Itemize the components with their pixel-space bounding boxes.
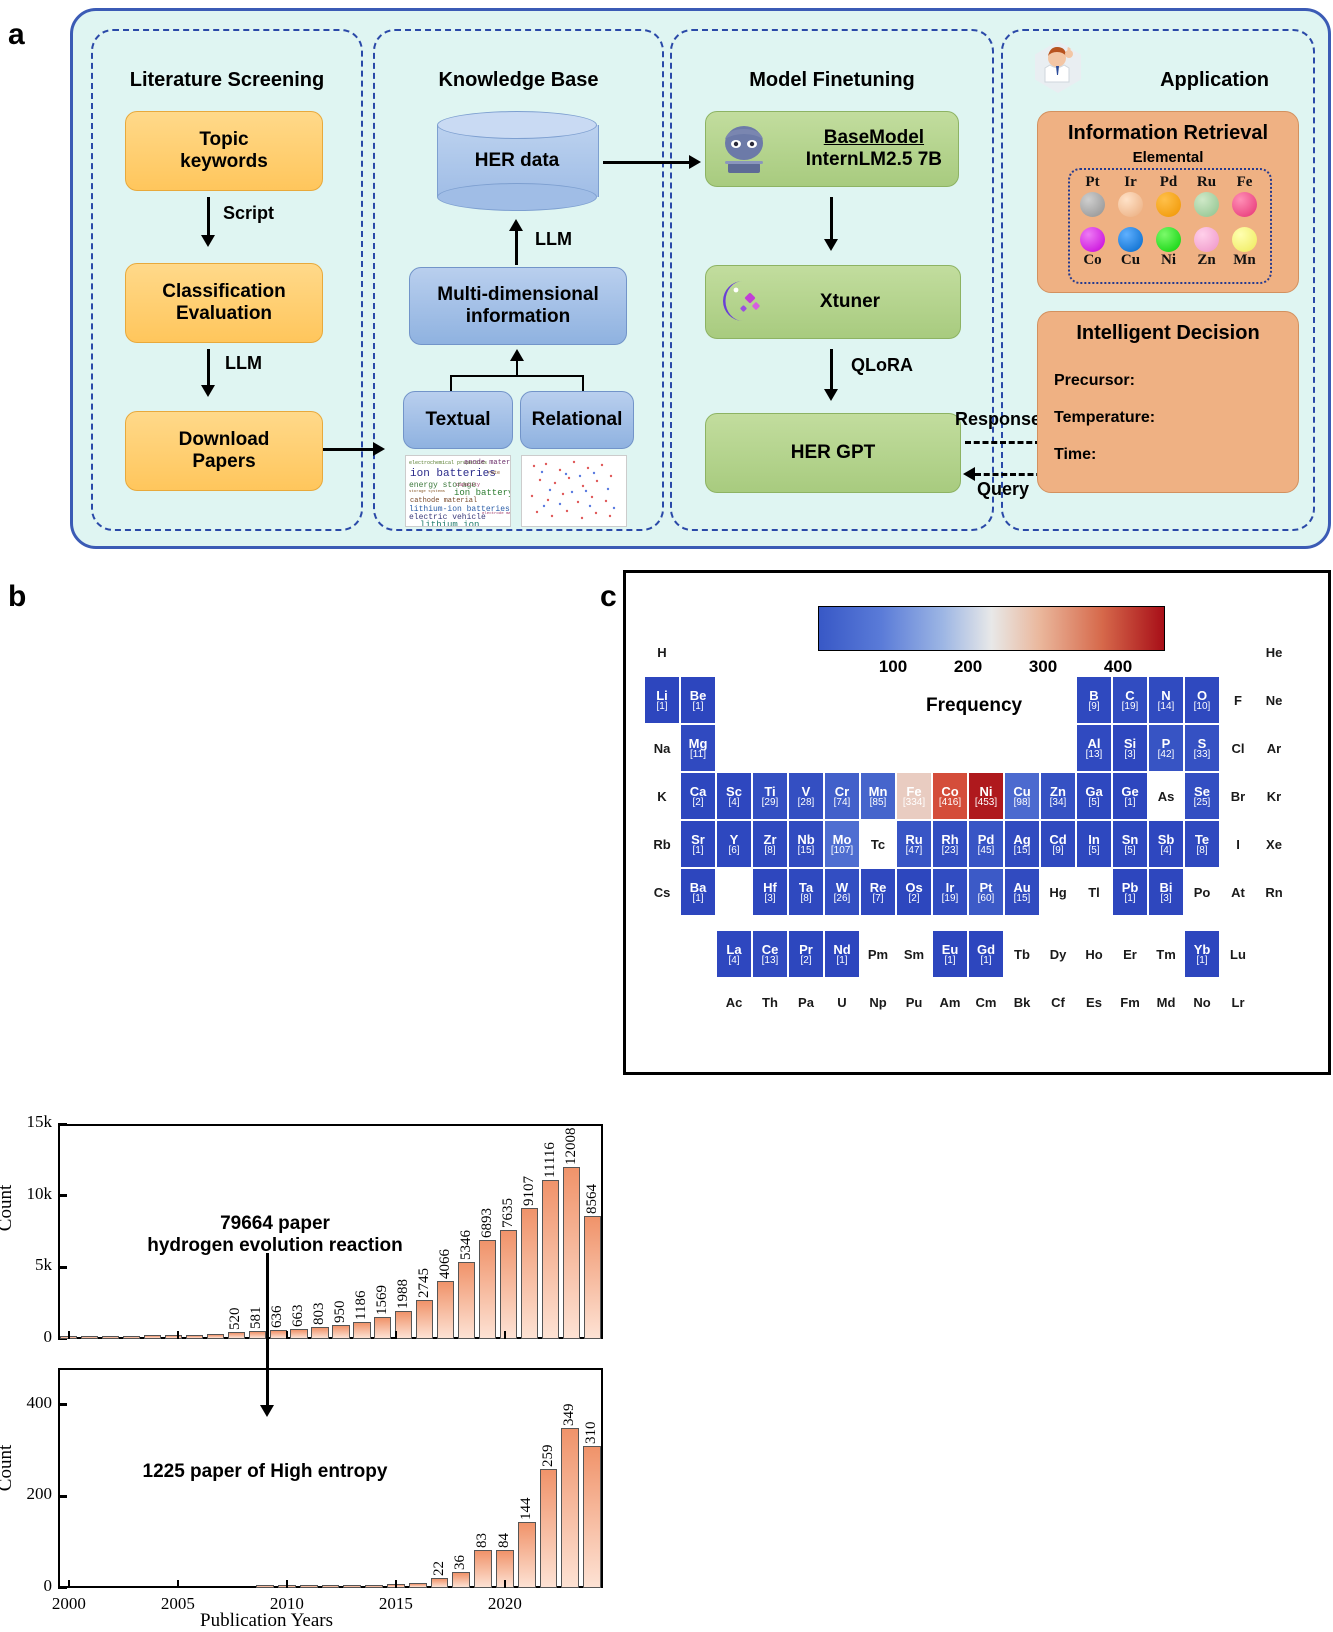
bar [365, 1585, 383, 1588]
element-symbol: Te [1195, 833, 1209, 846]
periodic-cell-ac[interactable]: Ac [716, 978, 752, 1026]
bar [102, 1336, 119, 1339]
element-frequency-value: [19] [942, 894, 959, 904]
bar [332, 1325, 349, 1339]
element-symbol: C [1125, 689, 1134, 702]
element-frequency-value: [1] [980, 956, 991, 966]
element-chip-ir[interactable]: Ir [1114, 174, 1147, 217]
xtick-label: 2005 [154, 1594, 202, 1614]
periodic-cell-fm[interactable]: Fm [1112, 978, 1148, 1026]
periodic-cell-as[interactable]: As [1148, 772, 1184, 820]
upper-chart-annotation: 79664 paper hydrogen evolution reaction [110, 1213, 440, 1257]
element-frequency-value: [3] [1124, 750, 1135, 760]
xtick-mark-upper [286, 1331, 289, 1339]
periodic-cell-rn[interactable]: Rn [1256, 868, 1292, 916]
element-symbol: Ni [1152, 252, 1185, 269]
element-symbol: Fm [1120, 996, 1140, 1009]
bar-value-label: 663 [290, 1277, 307, 1327]
element-symbol: Bi [1160, 881, 1173, 894]
periodic-cell-sb[interactable]: Sb[4] [1148, 820, 1184, 868]
bar [144, 1335, 161, 1339]
bar-value-label: 12008 [563, 1115, 580, 1165]
element-frequency-value: [25] [1194, 798, 1211, 808]
periodic-cell-c[interactable]: C[19] [1112, 676, 1148, 724]
element-symbol: Cm [976, 996, 997, 1009]
xtick-label: 2015 [372, 1594, 420, 1614]
periodic-cell-ca[interactable]: Ca[2] [680, 772, 716, 820]
ytick-mark [58, 1403, 67, 1406]
element-symbol: Yb [1194, 943, 1211, 956]
element-symbol: Pa [798, 996, 814, 1009]
periodic-cell-mn[interactable]: Mn[85] [860, 772, 896, 820]
element-chip-mn[interactable]: Mn [1228, 226, 1261, 269]
node-basemodel-line2: InternLM2.5 7B [806, 149, 942, 171]
xtick-mark [286, 1580, 289, 1588]
element-frequency-value: [1] [692, 894, 703, 904]
bar [228, 1332, 245, 1339]
periodic-cell-cs[interactable]: Cs [644, 868, 680, 916]
periodic-cell-b[interactable]: B[9] [1076, 676, 1112, 724]
node-multidim-line2: information [437, 306, 599, 328]
element-frequency-value: [9] [1052, 846, 1063, 856]
bar [165, 1335, 182, 1339]
periodic-cell-h[interactable]: H [644, 628, 680, 676]
bar [123, 1336, 140, 1339]
periodic-cell-li[interactable]: Li[1] [644, 676, 680, 724]
periodic-cell-ru[interactable]: Ru[47] [896, 820, 932, 868]
periodic-cell-am[interactable]: Am [932, 978, 968, 1026]
element-symbol: Cu [1013, 785, 1030, 798]
arrow-model-to-xtuner-head [824, 239, 838, 251]
periodic-cell-ir[interactable]: Ir[19] [932, 868, 968, 916]
element-symbol: Co [941, 785, 958, 798]
element-symbol: He [1266, 646, 1283, 659]
periodic-cell-sc[interactable]: Sc[4] [716, 772, 752, 820]
node-topic-keywords-line1: Topic [180, 129, 268, 151]
periodic-cell-pb[interactable]: Pb[1] [1112, 868, 1148, 916]
arrow-llm2-line [515, 229, 518, 265]
wordcloud-thumbnail: electrochemical properties anode materia… [405, 455, 511, 527]
element-frequency-value: [23] [942, 846, 959, 856]
periodic-cell-ge[interactable]: Ge[1] [1112, 772, 1148, 820]
bar [374, 1317, 391, 1339]
periodic-cell-p[interactable]: P[42] [1148, 724, 1184, 772]
periodic-cell-f[interactable]: F [1220, 676, 1256, 724]
bar [479, 1240, 496, 1339]
element-symbol: Ac [726, 996, 743, 1009]
element-frequency-value: [107] [831, 846, 853, 856]
element-symbol: Ru [905, 833, 922, 846]
periodic-cell-ni[interactable]: Ni[453] [968, 772, 1004, 820]
node-her-gpt[interactable]: HER GPT [705, 413, 961, 493]
periodic-cell-mo[interactable]: Mo[107] [824, 820, 860, 868]
periodic-cell-nb[interactable]: Nb[15] [788, 820, 824, 868]
element-frequency-value: [5] [1088, 846, 1099, 856]
periodic-cell-cd[interactable]: Cd[9] [1040, 820, 1076, 868]
periodic-cell-gd[interactable]: Gd[1] [968, 930, 1004, 978]
element-frequency-value: [14] [1158, 702, 1175, 712]
periodic-cell-pm[interactable]: Pm [860, 930, 896, 978]
node-topic-keywords[interactable]: Topic keywords [125, 111, 323, 191]
element-frequency-value: [1] [1124, 798, 1135, 808]
element-symbol: Br [1231, 790, 1245, 803]
periodic-cell-po[interactable]: Po [1184, 868, 1220, 916]
element-symbol: Na [654, 742, 671, 755]
node-topic-keywords-line2: keywords [180, 151, 268, 173]
element-symbol: Ta [799, 881, 813, 894]
element-frequency-value: [29] [762, 798, 779, 808]
periodic-cell-ag[interactable]: Ag[15] [1004, 820, 1040, 868]
periodic-cell-he[interactable]: He [1256, 628, 1292, 676]
periodic-cell-er[interactable]: Er [1112, 930, 1148, 978]
periodic-cell-rh[interactable]: Rh[23] [932, 820, 968, 868]
element-frequency-value: [15] [1014, 846, 1031, 856]
element-frequency-value: [4] [728, 956, 739, 966]
element-symbol: Zn [1190, 252, 1223, 269]
periodic-cell-cf[interactable]: Cf [1040, 978, 1076, 1026]
element-symbol: Rn [1265, 886, 1282, 899]
element-symbol: Pr [799, 943, 813, 956]
bar [409, 1583, 427, 1588]
periodic-cell-sm[interactable]: Sm [896, 930, 932, 978]
periodic-cell-re[interactable]: Re[7] [860, 868, 896, 916]
element-symbol: Ir [946, 881, 955, 894]
xtuner-logo-icon [719, 277, 769, 325]
bar [81, 1336, 98, 1339]
periodic-cell-la[interactable]: La[4] [716, 930, 752, 978]
element-symbol: V [802, 785, 811, 798]
periodic-cell-md[interactable]: Md [1148, 978, 1184, 1026]
element-chip-ru[interactable]: Ru [1190, 174, 1223, 217]
periodic-cell-cm[interactable]: Cm [968, 978, 1004, 1026]
arrow-qlora-line [830, 349, 833, 391]
periodic-cell-ti[interactable]: Ti[29] [752, 772, 788, 820]
element-frequency-value: [2] [692, 798, 703, 808]
bar-value-label: 950 [332, 1273, 349, 1323]
element-chip-co[interactable]: Co [1076, 226, 1109, 269]
bar [521, 1208, 538, 1339]
element-frequency-value: [33] [1194, 750, 1211, 760]
periodic-cell-ne[interactable]: Ne [1256, 676, 1292, 724]
periodic-cell-s[interactable]: S[33] [1184, 724, 1220, 772]
periodic-cell-na[interactable]: Na [644, 724, 680, 772]
bar-value-label: 7635 [500, 1178, 517, 1228]
panel-label-a: a [8, 18, 25, 52]
element-symbol: O [1197, 689, 1207, 702]
tree-crossbar [450, 375, 584, 377]
periodic-cell-cr[interactable]: Cr[74] [824, 772, 860, 820]
periodic-cell-tb[interactable]: Tb [1004, 930, 1040, 978]
ytick-mark [58, 1266, 67, 1269]
element-symbol: Eu [942, 943, 959, 956]
element-frequency-value: [8] [1196, 846, 1207, 856]
periodic-cell-n[interactable]: N[14] [1148, 676, 1184, 724]
periodic-cell-w[interactable]: W[26] [824, 868, 860, 916]
element-symbol: Cf [1051, 996, 1065, 1009]
node-download-papers[interactable]: Download Papers [125, 411, 323, 491]
bar-value-label: 84 [496, 1506, 513, 1548]
stage-title-model-finetuning: Model Finetuning [672, 69, 992, 92]
periodic-cell-hg[interactable]: Hg [1040, 868, 1076, 916]
periodic-cell-tc[interactable]: Tc [860, 820, 896, 868]
arrow-script-head [201, 235, 215, 247]
node-xtuner-label: Xtuner [820, 291, 880, 313]
element-frequency-value: [1] [692, 846, 703, 856]
periodic-cell-ho[interactable]: Ho [1076, 930, 1112, 978]
element-symbol: Tl [1088, 886, 1100, 899]
node-classification-line1: Classification [162, 281, 286, 303]
element-frequency-value: [74] [834, 798, 851, 808]
element-symbol: Pt [980, 881, 993, 894]
periodic-cell-np[interactable]: Np [860, 978, 896, 1026]
periodic-cell-cl[interactable]: Cl [1220, 724, 1256, 772]
element-symbol: Ti [764, 785, 775, 798]
node-textual[interactable]: Textual [403, 391, 513, 449]
element-symbol: Hf [763, 881, 777, 894]
element-symbol: Ho [1085, 948, 1102, 961]
arrow-label-qlora: QLoRA [851, 355, 913, 376]
element-symbol: Lr [1232, 996, 1245, 1009]
element-symbol: Pb [1122, 881, 1139, 894]
ytick-label: 200 [12, 1484, 52, 1504]
periodic-cell-sr[interactable]: Sr[1] [680, 820, 716, 868]
relational-graph-thumbnail [521, 455, 627, 527]
element-symbol: Zn [1050, 785, 1066, 798]
element-symbol: Sb [1158, 833, 1175, 846]
element-symbol: Nd [833, 943, 850, 956]
periodic-cell-os[interactable]: Os[2] [896, 868, 932, 916]
tree-branch-left [450, 375, 452, 391]
periodic-cell-tm[interactable]: Tm [1148, 930, 1184, 978]
arrow-download-to-kb-head [373, 442, 385, 456]
periodic-cell-ga[interactable]: Ga[5] [1076, 772, 1112, 820]
node-classification-evaluation[interactable]: Classification Evaluation [125, 263, 323, 343]
element-symbol: Ca [690, 785, 707, 798]
element-symbol: Ce [762, 943, 779, 956]
element-symbol: Zr [764, 833, 777, 846]
periodic-cell-ce[interactable]: Ce[13] [752, 930, 788, 978]
stage-title-literature-screening: Literature Screening [93, 69, 361, 92]
element-symbol: Ga [1085, 785, 1102, 798]
node-classification-line2: Evaluation [162, 303, 286, 325]
element-chip-ni[interactable]: Ni [1152, 226, 1185, 269]
periodic-cell-xe[interactable]: Xe [1256, 820, 1292, 868]
periodic-cell-o[interactable]: O[10] [1184, 676, 1220, 724]
arrow-llm2-head [509, 219, 523, 231]
bar [207, 1334, 224, 1339]
element-symbol: Pm [868, 948, 888, 961]
element-symbol: Sc [726, 785, 742, 798]
bar-value-label: 22 [431, 1534, 448, 1576]
periodic-cell-pd[interactable]: Pd[45] [968, 820, 1004, 868]
periodic-cell-ta[interactable]: Ta[8] [788, 868, 824, 916]
periodic-cell-mg[interactable]: Mg[11] [680, 724, 716, 772]
node-textual-label: Textual [425, 409, 490, 431]
bar [542, 1180, 559, 1339]
periodic-cell-zr[interactable]: Zr[8] [752, 820, 788, 868]
periodic-cell-lu[interactable]: Lu [1220, 930, 1256, 978]
periodic-cell-be[interactable]: Be[1] [680, 676, 716, 724]
periodic-cell-th[interactable]: Th [752, 978, 788, 1026]
element-symbol: Tm [1156, 948, 1176, 961]
bar [584, 1216, 601, 1339]
element-symbol: Ni [980, 785, 993, 798]
bar [458, 1262, 475, 1339]
periodic-cell-es[interactable]: Es [1076, 978, 1112, 1026]
xtick-label: 2010 [263, 1594, 311, 1614]
arrow-kb-to-model-line [603, 161, 691, 164]
periodic-cell-pu[interactable]: Pu [896, 978, 932, 1026]
element-symbol: Sn [1122, 833, 1139, 846]
periodic-cell-te[interactable]: Te[8] [1184, 820, 1220, 868]
xtick-mark [68, 1580, 71, 1588]
bar [416, 1300, 433, 1339]
periodic-cell-pt[interactable]: Pt[60] [968, 868, 1004, 916]
periodic-cell-cu[interactable]: Cu[98] [1004, 772, 1040, 820]
periodic-cell-eu[interactable]: Eu[1] [932, 930, 968, 978]
element-symbol: Re [870, 881, 887, 894]
periodic-cell-bk[interactable]: Bk [1004, 978, 1040, 1026]
decision-field-temperature: Temperature: [1054, 409, 1155, 427]
stage-title-knowledge-base: Knowledge Base [375, 69, 662, 92]
element-symbol: Cs [654, 886, 671, 899]
periodic-cell-fe[interactable]: Fe[334] [896, 772, 932, 820]
element-frequency-value: [15] [1014, 894, 1031, 904]
periodic-cell-al[interactable]: Al[13] [1076, 724, 1112, 772]
annotation-connector-line [266, 1253, 269, 1408]
arrow-llm1-head [201, 385, 215, 397]
element-chip-zn[interactable]: Zn [1190, 226, 1223, 269]
periodic-cell-at[interactable]: At [1220, 868, 1256, 916]
periodic-cell-lr[interactable]: Lr [1220, 978, 1256, 1026]
periodic-cell-si[interactable]: Si[3] [1112, 724, 1148, 772]
bar-value-label: 1569 [374, 1265, 391, 1315]
bar-value-label: 1988 [395, 1259, 412, 1309]
element-symbol: S [1198, 737, 1207, 750]
periodic-cell-au[interactable]: Au[15] [1004, 868, 1040, 916]
ytick-label: 10k [12, 1184, 52, 1204]
periodic-cell-no[interactable]: No [1184, 978, 1220, 1026]
colorbar-tick-label: 300 [1017, 657, 1069, 677]
periodic-cell-hf[interactable]: Hf[3] [752, 868, 788, 916]
element-symbol: Mg [689, 737, 708, 750]
bar-value-label: 636 [269, 1278, 286, 1328]
elemental-circles-group: Pt Ir Pd Ru Fe Co [1068, 168, 1272, 284]
bar [563, 1167, 580, 1339]
element-chip-fe[interactable]: Fe [1228, 174, 1261, 217]
periodic-cell-dy[interactable]: Dy [1040, 930, 1076, 978]
element-frequency-value: [1] [1124, 894, 1135, 904]
periodic-cell-nd[interactable]: Nd[1] [824, 930, 860, 978]
node-multidimensional-information[interactable]: Multi-dimensional information [409, 267, 627, 345]
card-intelligent-decision[interactable]: Intelligent Decision Precursor: Temperat… [1037, 311, 1299, 493]
colorbar-tick-label: 100 [867, 657, 919, 677]
element-symbol: Ge [1121, 785, 1138, 798]
ytick-mark [58, 1123, 67, 1126]
periodic-cell-co[interactable]: Co[416] [932, 772, 968, 820]
element-frequency-value: [42] [1158, 750, 1175, 760]
ytick-mark [58, 1587, 67, 1590]
periodic-cell-i[interactable]: I [1220, 820, 1256, 868]
periodic-cell-k[interactable]: K [644, 772, 680, 820]
bar-value-label: 144 [518, 1478, 535, 1520]
element-symbol: No [1193, 996, 1210, 1009]
periodic-cell-rb[interactable]: Rb [644, 820, 680, 868]
node-relational[interactable]: Relational [520, 391, 634, 449]
bar [452, 1572, 470, 1589]
periodic-cell-v[interactable]: V[28] [788, 772, 824, 820]
element-symbol: Si [1124, 737, 1136, 750]
element-frequency-value: [1] [656, 702, 667, 712]
element-symbol: Cu [1114, 252, 1147, 269]
element-frequency-value: [34] [1050, 798, 1067, 808]
tree-branch-right [582, 375, 584, 391]
element-symbol: Dy [1050, 948, 1067, 961]
element-chip-cu[interactable]: Cu [1114, 226, 1147, 269]
element-symbol: Es [1086, 996, 1102, 1009]
arrow-download-to-kb-line [323, 448, 375, 451]
arrow-query-head [963, 467, 975, 481]
element-frequency-value: [6] [728, 846, 739, 856]
periodic-cell-in[interactable]: In[5] [1076, 820, 1112, 868]
element-frequency-value: [98] [1014, 798, 1031, 808]
periodic-cell-se[interactable]: Se[25] [1184, 772, 1220, 820]
element-frequency-value: [15] [798, 846, 815, 856]
bar-value-label: 349 [561, 1384, 578, 1426]
tree-stem-head [510, 349, 524, 361]
element-symbol: W [836, 881, 848, 894]
element-frequency-periodic-table: 100200300400 Frequency HHeLi[1]Be[1]B[9]… [623, 570, 1331, 1075]
periodic-cell-yb[interactable]: Yb[1] [1184, 930, 1220, 978]
bar-value-label: 581 [248, 1279, 265, 1329]
periodic-cell-sn[interactable]: Sn[5] [1112, 820, 1148, 868]
element-symbol: Rh [941, 833, 958, 846]
periodic-cell-kr[interactable]: Kr [1256, 772, 1292, 820]
ytick-mark [58, 1194, 67, 1197]
periodic-cell-tl[interactable]: Tl [1076, 868, 1112, 916]
node-download-line1: Download [179, 429, 270, 451]
periodic-cell-zn[interactable]: Zn[34] [1040, 772, 1076, 820]
bar-value-label: 310 [583, 1402, 600, 1444]
element-color-dot [1194, 192, 1219, 217]
periodic-cell-bi[interactable]: Bi[3] [1148, 868, 1184, 916]
element-chip-pd[interactable]: Pd [1152, 174, 1185, 217]
periodic-cell-br[interactable]: Br [1220, 772, 1256, 820]
bar [561, 1428, 579, 1588]
element-symbol: Bk [1014, 996, 1031, 1009]
periodic-cell-u[interactable]: U [824, 978, 860, 1026]
node-her-data-cylinder[interactable]: HER data [437, 111, 597, 211]
periodic-cell-ar[interactable]: Ar [1256, 724, 1292, 772]
element-frequency-value: [3] [1160, 894, 1171, 904]
element-symbol: Fe [906, 785, 921, 798]
periodic-cell-y[interactable]: Y[6] [716, 820, 752, 868]
bar-value-label: 6893 [479, 1188, 496, 1238]
element-symbol: Ir [1114, 174, 1147, 191]
element-symbol: Gd [977, 943, 995, 956]
cylinder-bottom [437, 183, 597, 211]
element-color-dot [1118, 227, 1143, 252]
periodic-cell-ba[interactable]: Ba[1] [680, 868, 716, 916]
xtick-mark-upper [68, 1331, 71, 1339]
element-color-dot [1232, 192, 1257, 217]
periodic-cell-pr[interactable]: Pr[2] [788, 930, 824, 978]
periodic-cell-pa[interactable]: Pa [788, 978, 824, 1026]
cylinder-top [437, 111, 597, 139]
card-information-retrieval[interactable]: Information Retrieval Elemental Pt Ir Pd… [1037, 111, 1299, 293]
element-frequency-value: [10] [1194, 702, 1211, 712]
element-chip-pt[interactable]: Pt [1076, 174, 1109, 217]
